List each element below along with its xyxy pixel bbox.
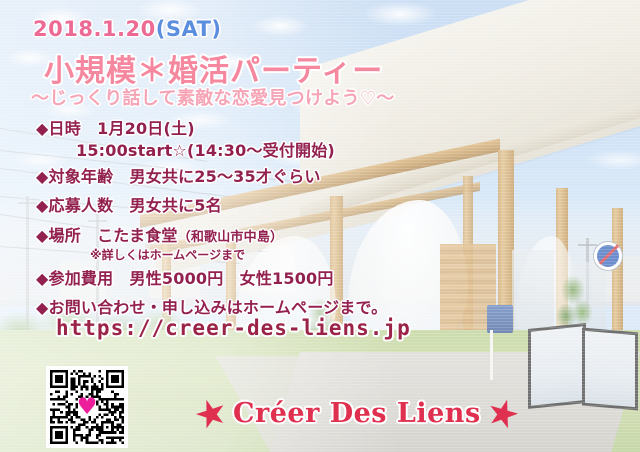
detail-capacity: ◆応募人数 男女共に5名 (36, 192, 222, 216)
star-icon (192, 395, 230, 433)
flyer-poster: 2018.1.20(SAT) 小規模＊婚活パーティー 〜じっくり話して素敵な恋愛… (0, 0, 640, 452)
detail-note: ※詳しくはホームページまで (90, 246, 245, 263)
event-date: 2018.1.20(SAT) (33, 17, 222, 41)
event-date-weekday: (SAT) (156, 17, 222, 41)
qr-code[interactable]: ♥ (46, 366, 128, 448)
detail-fee: ◆参加費用 男性5000円 女性1500円 (36, 265, 334, 289)
website-url[interactable]: https://creer-des-liens.jp (56, 316, 411, 340)
detail-contact: ◆お問い合わせ・申し込みはホームページまで。 (36, 294, 387, 318)
detail-age-range: ◆対象年齢 男女共に25〜35才ぐらい (36, 163, 321, 187)
page-subtitle: 〜じっくり話して素敵な恋愛見つけよう♡〜 (31, 84, 395, 110)
heart-icon: ♥ (76, 397, 98, 417)
detail-venue: ◆場所 こたま食堂（和歌山市中島） (36, 222, 283, 246)
text-layer: 2018.1.20(SAT) 小規模＊婚活パーティー 〜じっくり話して素敵な恋愛… (0, 0, 640, 452)
detail-venue-main: ◆場所 こたま食堂 (36, 226, 178, 245)
star-icon (484, 395, 521, 432)
brand-logo: Créer Des Liens (196, 398, 518, 429)
brand-name: Créer Des Liens (233, 398, 481, 429)
detail-venue-sub: （和歌山市中島） (178, 230, 284, 245)
detail-starttime: 15:00start☆(14:30〜受付開始) (76, 137, 335, 161)
detail-datetime: ◆日時 1月20日(土) (36, 115, 195, 139)
event-date-value: 2018.1.20 (33, 17, 156, 41)
